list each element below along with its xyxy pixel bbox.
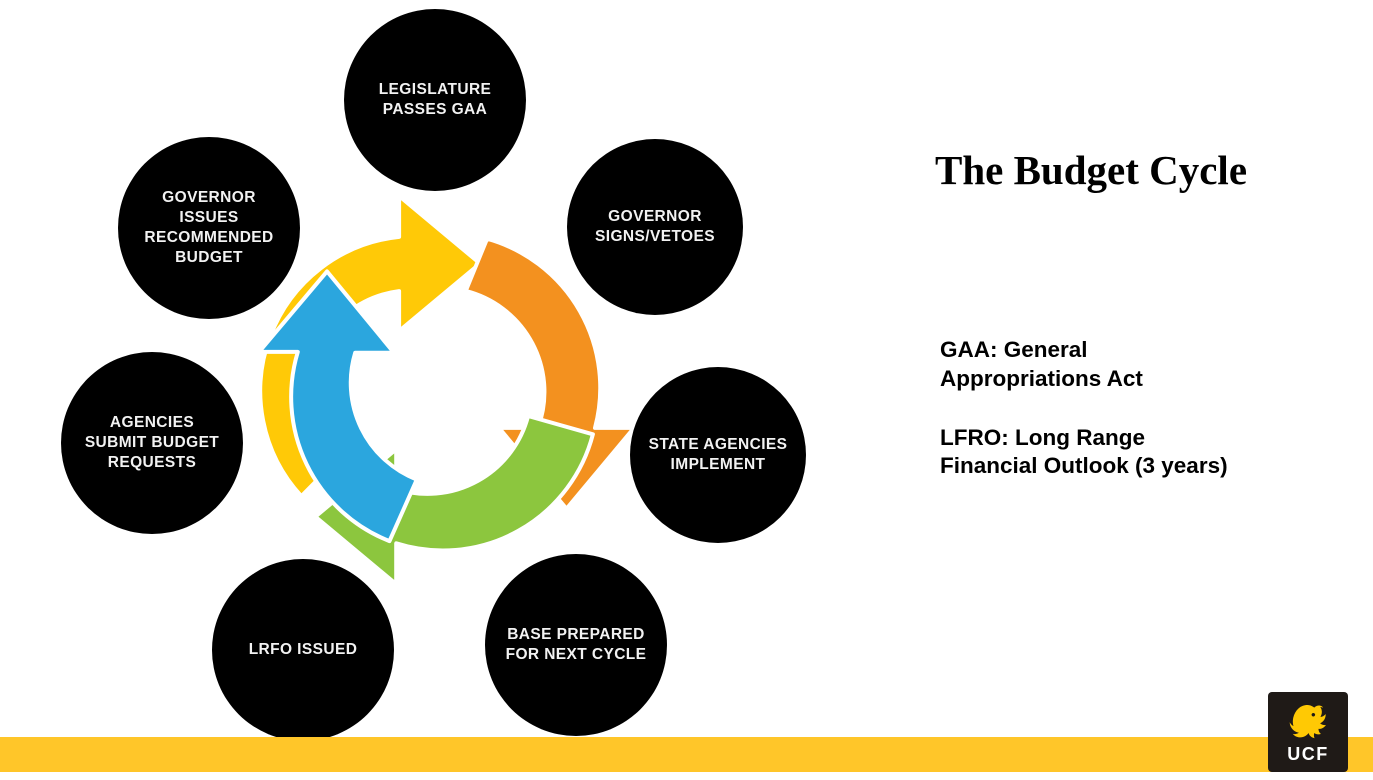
cycle-node-governor-issues-recommended-budget[interactable]: GOVERNOR ISSUES RECOMMENDED BUDGET	[118, 137, 300, 319]
footer-accent-bar	[0, 737, 1373, 772]
cycle-node-label: GOVERNOR SIGNS/VETOES	[587, 207, 723, 247]
cycle-node-agencies-submit-budget-requests[interactable]: AGENCIES SUBMIT BUDGET REQUESTS	[61, 352, 243, 534]
title-block: The Budget Cycle	[836, 146, 1346, 194]
definition-gaa: GAA: General Appropriations Act	[940, 336, 1360, 394]
definition-lfro: LFRO: Long Range Financial Outlook (3 ye…	[940, 424, 1360, 482]
cycle-node-label: LRFO ISSUED	[241, 640, 366, 660]
cycle-node-governor-signs-vetoes[interactable]: GOVERNOR SIGNS/VETOES	[567, 139, 743, 315]
cycle-node-label: GOVERNOR ISSUES RECOMMENDED BUDGET	[136, 188, 281, 267]
definitions-block: GAA: General Appropriations Act LFRO: Lo…	[940, 336, 1360, 481]
cycle-node-label: STATE AGENCIES IMPLEMENT	[641, 435, 796, 475]
page-title: The Budget Cycle	[836, 146, 1346, 194]
cycle-node-state-agencies-implement[interactable]: STATE AGENCIES IMPLEMENT	[630, 367, 806, 543]
cycle-node-label: AGENCIES SUBMIT BUDGET REQUESTS	[77, 413, 227, 472]
cycle-node-label: LEGISLATURE PASSES GAA	[371, 80, 500, 120]
cycle-node-legislature-passes-gaa[interactable]: LEGISLATURE PASSES GAA	[344, 9, 526, 191]
cycle-node-lrfo-issued[interactable]: LRFO ISSUED	[212, 559, 394, 741]
cycle-node-label: BASE PREPARED FOR NEXT CYCLE	[498, 625, 655, 665]
ucf-pegasus-icon	[1284, 702, 1332, 742]
ucf-logo: UCF	[1268, 692, 1348, 772]
budget-cycle-diagram: LEGISLATURE PASSES GAA GOVERNOR SIGNS/VE…	[0, 0, 830, 740]
ucf-wordmark: UCF	[1287, 745, 1329, 763]
cycle-node-base-prepared-for-next-cycle[interactable]: BASE PREPARED FOR NEXT CYCLE	[485, 554, 667, 736]
slide-canvas: LEGISLATURE PASSES GAA GOVERNOR SIGNS/VE…	[0, 0, 1373, 780]
